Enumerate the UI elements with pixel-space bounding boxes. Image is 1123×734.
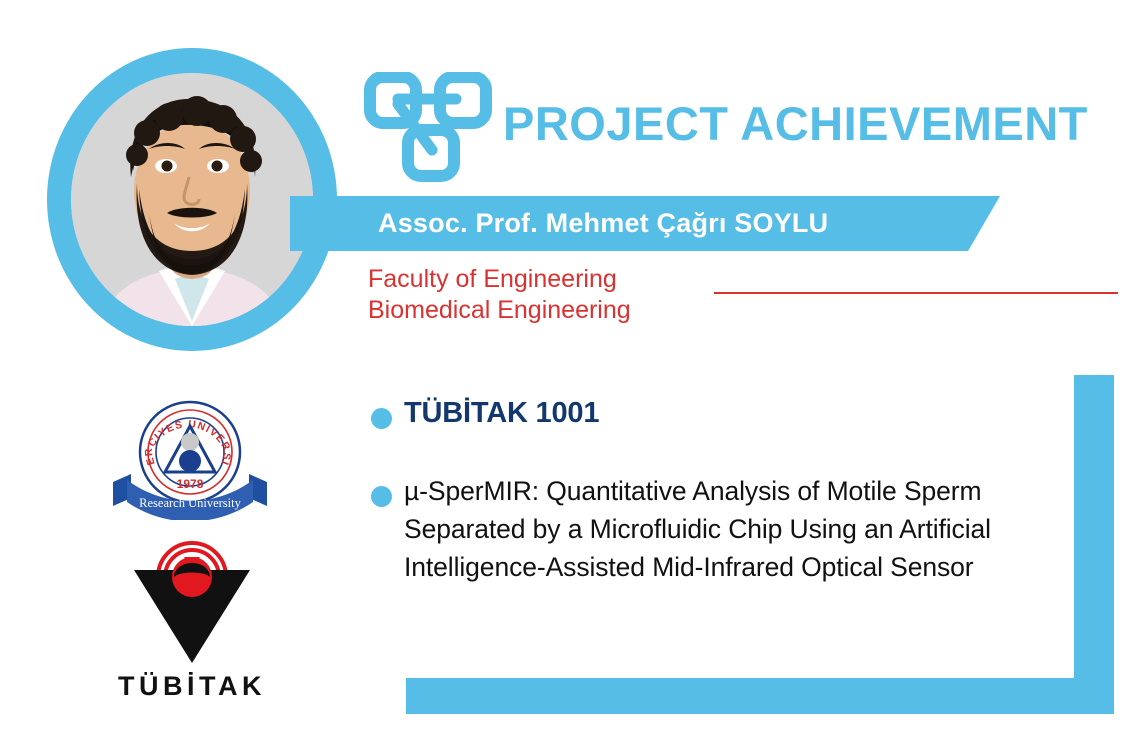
person-name: Assoc. Prof. Mehmet Çağrı SOYLU xyxy=(378,196,828,251)
divider-rule xyxy=(714,292,1118,294)
affiliation: Faculty of Engineering Biomedical Engine… xyxy=(368,264,631,326)
poster-canvas: PROJECT ACHIEVEMENT Assoc. Prof. Mehmet … xyxy=(0,0,1123,734)
affiliation-department: Biomedical Engineering xyxy=(368,295,631,326)
project-title: µ-SperMIR: Quantitative Analysis of Moti… xyxy=(404,472,1044,586)
network-nodes-icon xyxy=(362,72,492,182)
svg-text:1978: 1978 xyxy=(177,477,204,491)
svg-text:Research University: Research University xyxy=(139,496,241,510)
tubitak-logo: TÜBİTAK xyxy=(112,535,272,700)
avatar xyxy=(71,73,313,326)
erciyes-university-logo: ERCIYES UNIVERSITY 1978 Research Univers… xyxy=(105,398,275,520)
page-title: PROJECT ACHIEVEMENT xyxy=(503,96,1088,151)
affiliation-faculty: Faculty of Engineering xyxy=(368,264,631,295)
name-banner: Assoc. Prof. Mehmet Çağrı SOYLU xyxy=(290,196,1000,251)
decor-bracket-vertical xyxy=(1074,375,1114,680)
bullet-dot-icon xyxy=(371,408,392,429)
bullet-dot-icon xyxy=(371,486,392,507)
decor-bracket-horizontal xyxy=(406,678,1114,714)
program-label: TÜBİTAK 1001 xyxy=(404,397,599,430)
tubitak-wordmark: TÜBİTAK xyxy=(118,671,266,700)
portrait-photo xyxy=(71,73,313,326)
